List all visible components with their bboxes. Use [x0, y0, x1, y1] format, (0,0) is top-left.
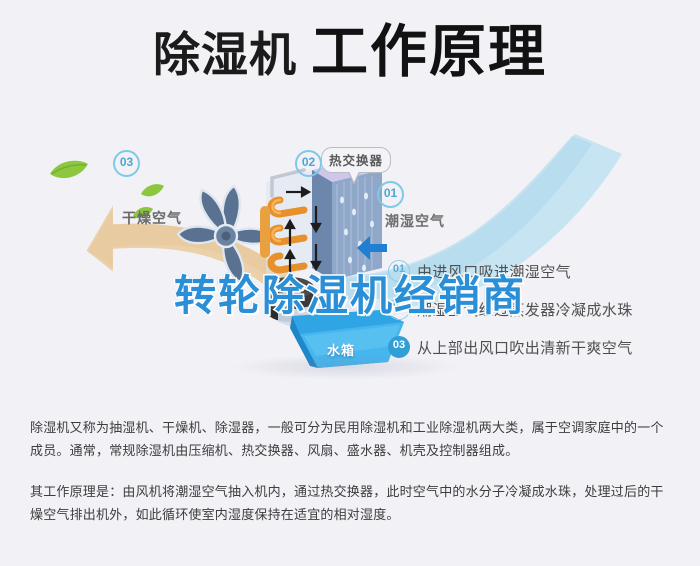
title-part-one: 除湿机	[153, 31, 297, 78]
page-title: 除湿机 工作原理	[0, 24, 700, 81]
description-paragraph-1: 除湿机又称为抽湿机、干燥机、除湿器，一般可分为民用除湿机和工业除湿机两大类，属于…	[30, 416, 675, 462]
label-water-tank: 水箱	[327, 340, 355, 359]
diagram-badge-02: 02	[295, 150, 322, 177]
leaf-icon	[44, 150, 114, 200]
list-item: 01 由进风口吸进潮湿空气	[388, 252, 688, 290]
list-item: 02 潮湿空气经过蒸发器冷凝成水珠	[388, 290, 688, 328]
step-text-03: 从上部出风口吹出清新干爽空气	[417, 337, 633, 358]
poster-root: 除湿机 工作原理	[0, 0, 700, 566]
diagram-badge-03: 03	[113, 150, 140, 177]
step-badge-02: 02	[388, 298, 410, 320]
callout-heat-exchanger: 热交换器	[321, 147, 391, 173]
step-badge-03: 03	[388, 336, 410, 358]
step-text-02: 潮湿空气经过蒸发器冷凝成水珠	[417, 299, 633, 320]
label-humid-air: 潮湿空气	[385, 211, 445, 231]
label-dry-air: 干燥空气	[122, 208, 182, 228]
description-paragraph-2: 其工作原理是：由风机将潮湿空气抽入机内，通过热交换器，此时空气中的水分子冷凝成水…	[30, 480, 675, 526]
step-text-01: 由进风口吸进潮湿空气	[417, 261, 571, 282]
title-part-two: 工作原理	[311, 24, 547, 81]
step-badge-01: 01	[388, 260, 410, 282]
diagram-badge-01: 01	[377, 181, 404, 208]
step-list: 01 由进风口吸进潮湿空气 02 潮湿空气经过蒸发器冷凝成水珠 03 从上部出风…	[388, 252, 688, 366]
list-item: 03 从上部出风口吹出清新干爽空气	[388, 328, 688, 366]
